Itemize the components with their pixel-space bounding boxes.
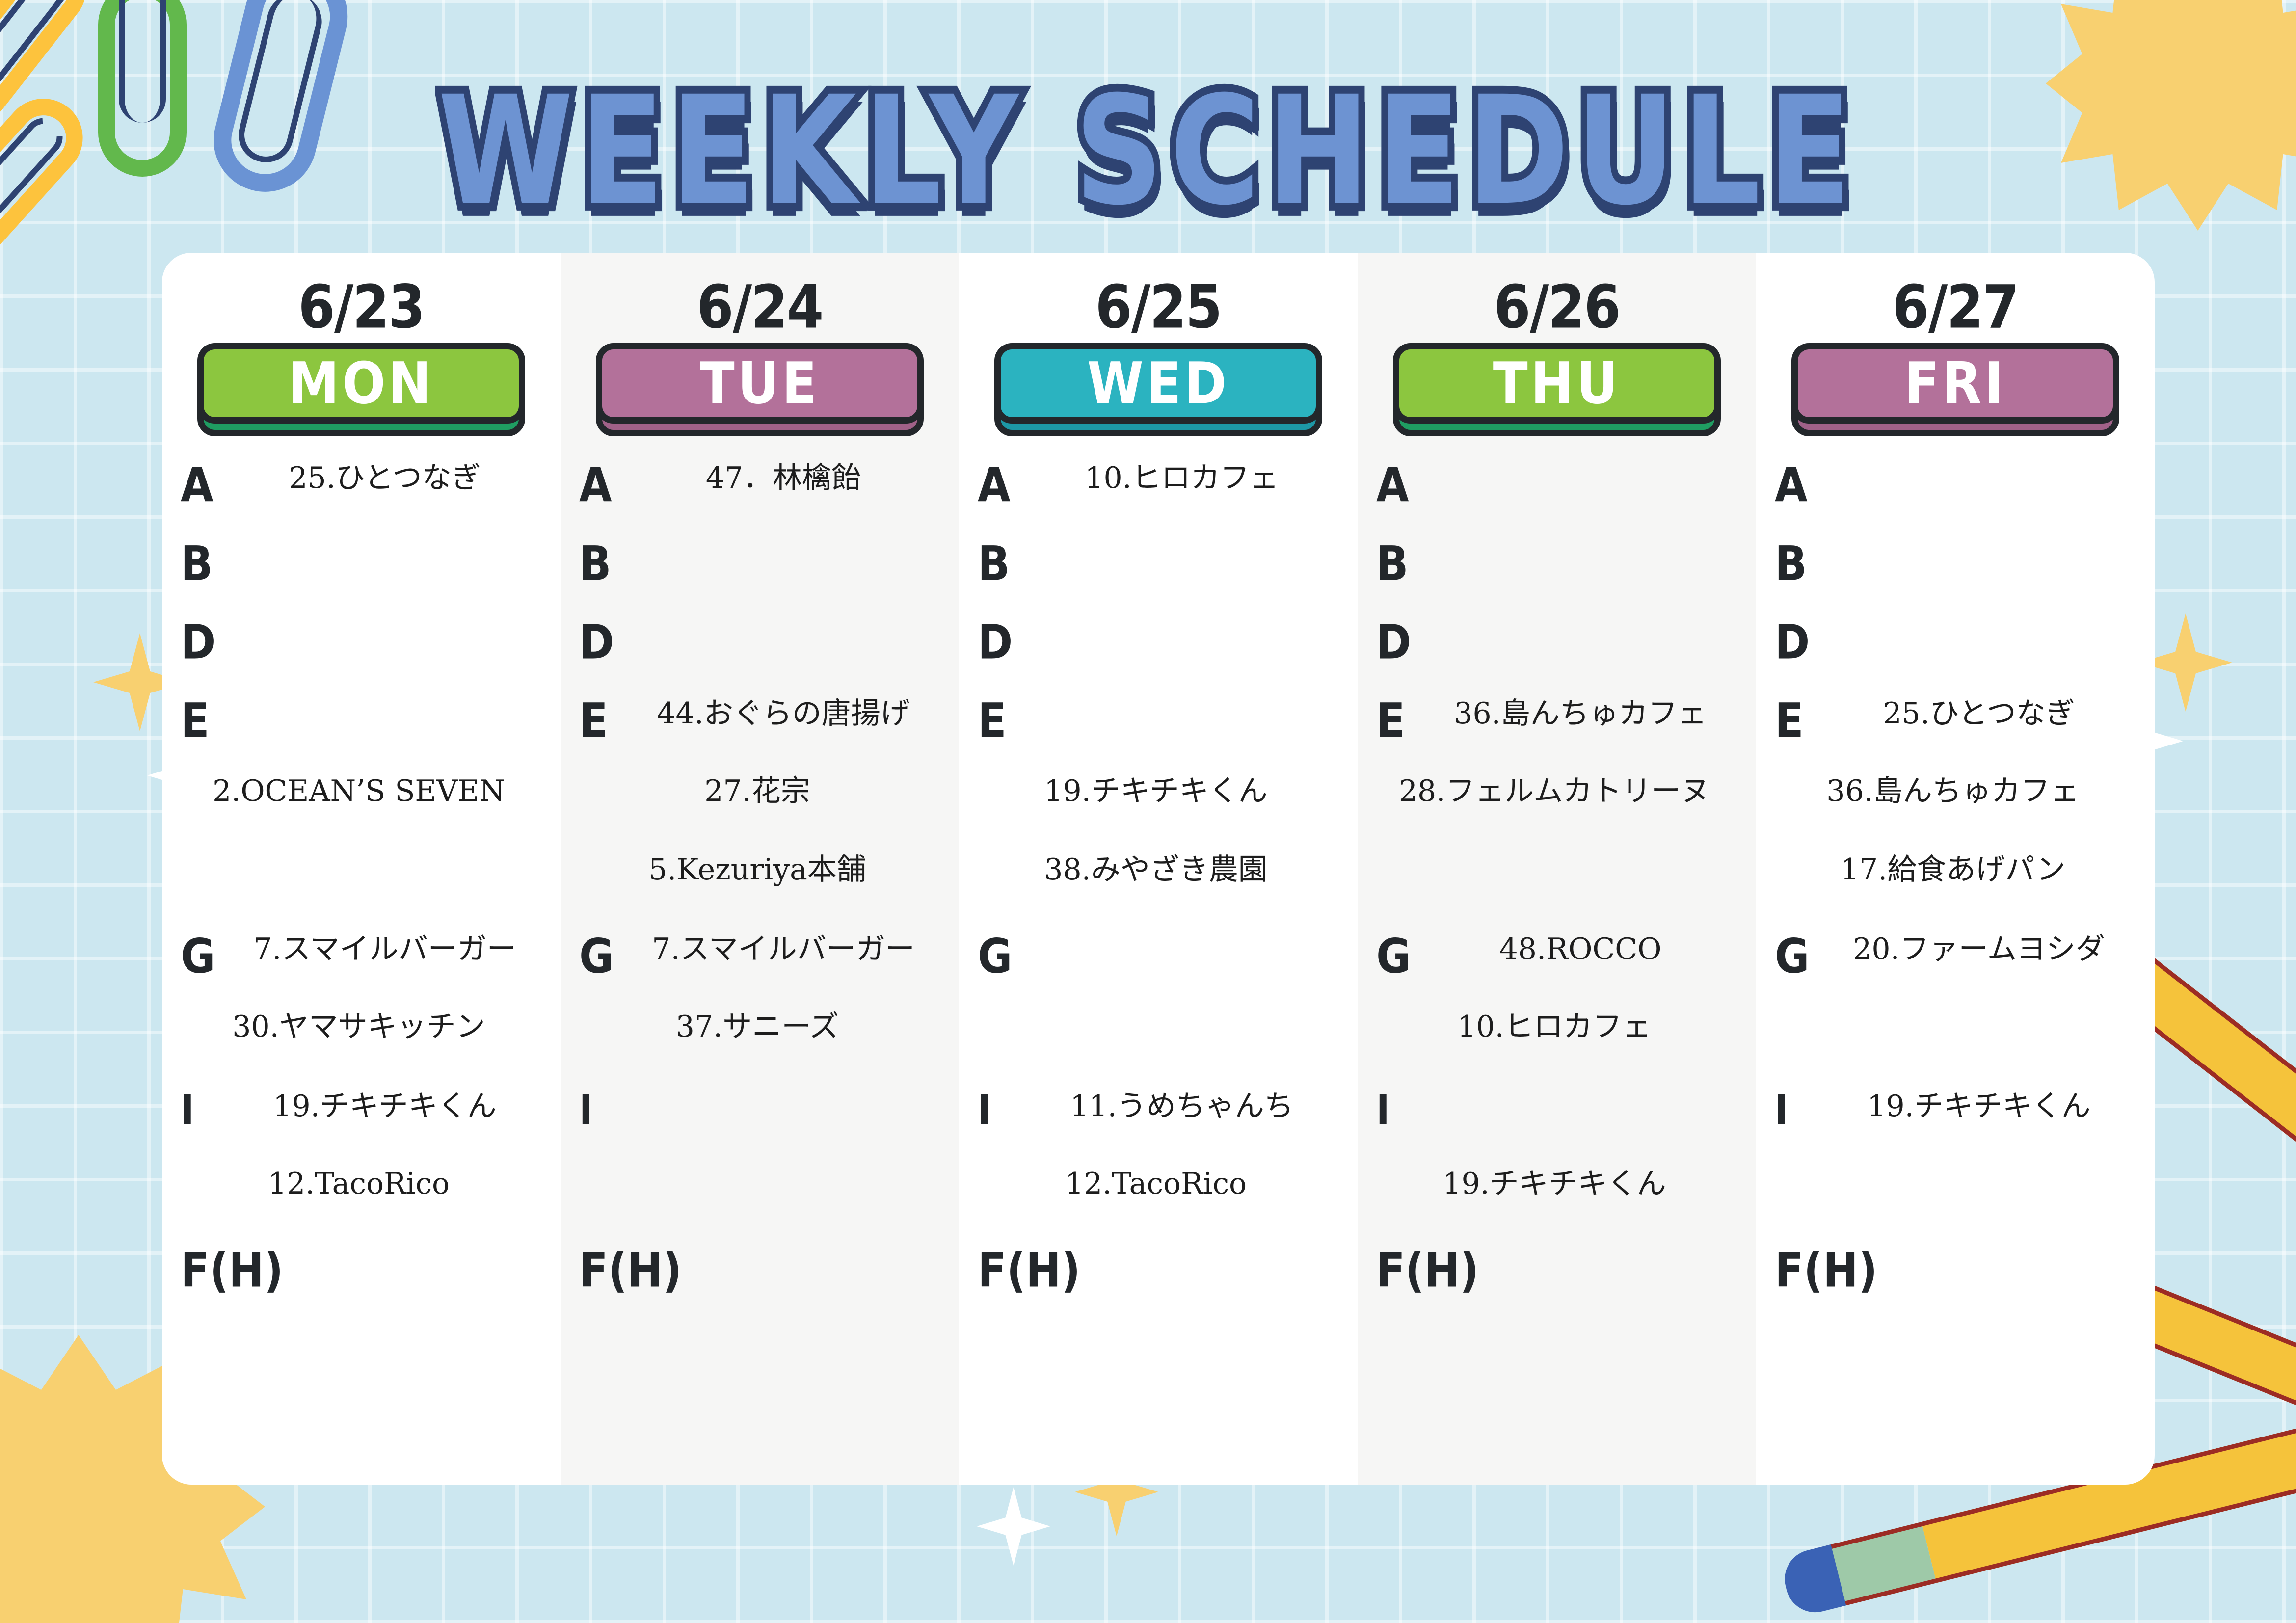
slot-key-i: I (171, 1090, 230, 1131)
slot-key-b: B (569, 540, 628, 587)
slot-row-i[interactable]: I 19.チキチキくん (1765, 1090, 2146, 1169)
slot-value-i: 19.チキチキくん (1824, 1090, 2146, 1122)
slot-key-i: I (1765, 1090, 1824, 1131)
slot-key-a: A (1765, 462, 1824, 509)
date-label-mon: 6/23 (171, 278, 552, 338)
slot-rows-thu: A B D E 36.島んちゅカフェ 28.フェルムカトリーヌ G 48.ROC… (1366, 462, 1747, 1326)
day-badge-face: MON (197, 343, 525, 424)
slot-key-g: G (1366, 933, 1425, 980)
slot-key-d: D (1765, 619, 1824, 666)
slot-key-fh: F(H) (1765, 1247, 1824, 1294)
day-column-fri[interactable]: 6/27 FRI A B D E 25.ひとつなぎ 3 (1756, 253, 2155, 1485)
slot-key-g: G (171, 933, 230, 980)
slot-row-b[interactable]: B (569, 540, 950, 619)
slot-value-g: 7.スマイルバーガー (230, 933, 552, 965)
slot-value-e: 44.おぐらの唐揚げ (628, 697, 950, 730)
slot-row-e[interactable]: E (968, 697, 1349, 776)
day-badge-wed[interactable]: WED (994, 343, 1322, 436)
slot-row-e[interactable]: E 36.島んちゅカフェ (1366, 697, 1747, 776)
day-name-thu: THU (1493, 355, 1621, 412)
slot-row-a[interactable]: A 47．林檎飴 (569, 462, 950, 540)
title-container: WEEKLY SCHEDULE (0, 64, 2296, 207)
day-badge-thu[interactable]: THU (1393, 343, 1720, 436)
date-label-thu: 6/26 (1366, 278, 1747, 338)
extra-line-2 (1366, 854, 1747, 933)
day-column-tue[interactable]: 6/24 TUE A 47．林檎飴 B D E 44.おぐらの唐揚げ (561, 253, 959, 1485)
g-extra-line: 10.ヒロカフェ (1366, 1011, 1747, 1090)
slot-rows-mon: A 25.ひとつなぎ B D E 2.OCEAN’S SEVEN G 7.スマイ… (171, 462, 552, 1326)
slot-key-b: B (171, 540, 230, 587)
slot-value-i: 11.うめちゃんち (1027, 1090, 1349, 1122)
day-badge-face: TUE (596, 343, 923, 424)
slot-row-e[interactable]: E (171, 697, 552, 776)
slot-key-fh: F(H) (968, 1247, 1027, 1294)
extra-line-1: 28.フェルムカトリーヌ (1366, 776, 1747, 854)
day-badge-tue[interactable]: TUE (596, 343, 923, 436)
slot-key-e: E (171, 697, 230, 745)
g-extra-line: 37.サニーズ (569, 1011, 950, 1090)
date-label-fri: 6/27 (1765, 278, 2146, 338)
slot-key-fh: F(H) (569, 1247, 628, 1294)
extra-line-2: 5.Kezuriya本舗 (569, 854, 950, 933)
slot-row-d[interactable]: D (968, 619, 1349, 697)
date-label-wed: 6/25 (968, 278, 1349, 338)
slot-row-a[interactable]: A 10.ヒロカフェ (968, 462, 1349, 540)
slot-row-g[interactable]: G 48.ROCCO (1366, 933, 1747, 1011)
slot-key-b: B (968, 540, 1027, 587)
day-column-mon[interactable]: 6/23 MON A 25.ひとつなぎ B D E 2 (162, 253, 561, 1485)
slot-row-i[interactable]: I (1366, 1090, 1747, 1169)
extra-line-2 (171, 854, 552, 933)
slot-row-g[interactable]: G 20.ファームヨシダ (1765, 933, 2146, 1011)
slot-value-g: 20.ファームヨシダ (1824, 933, 2146, 965)
slot-row-i[interactable]: I 11.うめちゃんち (968, 1090, 1349, 1169)
slot-row-fh[interactable]: F(H) (1765, 1247, 2146, 1326)
slot-row-e[interactable]: E 25.ひとつなぎ (1765, 697, 2146, 776)
slot-key-a: A (171, 462, 230, 509)
slot-row-b[interactable]: B (968, 540, 1349, 619)
day-column-wed[interactable]: 6/25 WED A 10.ヒロカフェ B D E 1 (959, 253, 1358, 1485)
day-name-wed: WED (1087, 355, 1229, 412)
slot-key-e: E (569, 697, 628, 745)
schedule-card: 6/23 MON A 25.ひとつなぎ B D E 2 (162, 253, 2155, 1485)
slot-row-fh[interactable]: F(H) (1366, 1247, 1747, 1326)
slot-key-fh: F(H) (1366, 1247, 1425, 1294)
slot-rows-tue: A 47．林檎飴 B D E 44.おぐらの唐揚げ 27.花宗 5.Kezuri… (569, 462, 950, 1326)
slot-key-e: E (1366, 697, 1425, 745)
slot-key-i: I (1366, 1090, 1425, 1131)
slot-value-a: 25.ひとつなぎ (230, 462, 552, 494)
slot-row-g[interactable]: G (968, 933, 1349, 1011)
slot-row-e[interactable]: E 44.おぐらの唐揚げ (569, 697, 950, 776)
slot-row-fh[interactable]: F(H) (968, 1247, 1349, 1326)
slot-rows-fri: A B D E 25.ひとつなぎ 36.島んちゅカフェ 17.給食あげパン G … (1765, 462, 2146, 1326)
slot-row-g[interactable]: G 7.スマイルバーガー (171, 933, 552, 1011)
slot-rows-wed: A 10.ヒロカフェ B D E 19.チキチキくん 38.みやざき農園 G (968, 462, 1349, 1326)
slot-row-b[interactable]: B (1366, 540, 1747, 619)
day-name-fri: FRI (1904, 355, 2006, 412)
slot-key-a: A (569, 462, 628, 509)
slot-key-d: D (1366, 619, 1425, 666)
slot-key-i: I (569, 1090, 628, 1131)
i-extra-line: 12.TacoRico (968, 1169, 1349, 1247)
page-title: WEEKLY SCHEDULE (438, 64, 1858, 238)
slot-key-i: I (968, 1090, 1027, 1131)
slot-row-d[interactable]: D (569, 619, 950, 697)
slot-value-e: 36.島んちゅカフェ (1425, 697, 1747, 730)
slot-value-i: 19.チキチキくん (230, 1090, 552, 1122)
extra-line-2: 38.みやざき農園 (968, 854, 1349, 933)
slot-key-b: B (1765, 540, 1824, 587)
date-label-tue: 6/24 (569, 278, 950, 338)
day-badge-face: THU (1393, 343, 1720, 424)
day-name-mon: MON (289, 355, 434, 412)
i-extra-line: 12.TacoRico (171, 1169, 552, 1247)
slot-key-d: D (569, 619, 628, 666)
slot-value-g: 7.スマイルバーガー (628, 933, 950, 965)
extra-line-1: 36.島んちゅカフェ (1765, 776, 2146, 854)
slot-row-d[interactable]: D (1765, 619, 2146, 697)
day-badge-face: WED (994, 343, 1322, 424)
slot-row-i[interactable]: I 19.チキチキくん (171, 1090, 552, 1169)
slot-row-d[interactable]: D (1366, 619, 1747, 697)
slot-key-g: G (569, 933, 628, 980)
slot-row-a[interactable]: A 25.ひとつなぎ (171, 462, 552, 540)
g-extra-line: 30.ヤマサキッチン (171, 1011, 552, 1090)
slot-key-g: G (968, 933, 1027, 980)
day-badge-fri[interactable]: FRI (1791, 343, 2119, 436)
slot-row-a[interactable]: A (1765, 462, 2146, 540)
g-extra-line (968, 1011, 1349, 1090)
slot-row-b[interactable]: B (1765, 540, 2146, 619)
i-extra-line (569, 1169, 950, 1247)
slot-key-d: D (968, 619, 1027, 666)
i-extra-line (1765, 1169, 2146, 1247)
slot-key-g: G (1765, 933, 1824, 980)
slot-row-i[interactable]: I (569, 1090, 950, 1169)
slot-key-a: A (1366, 462, 1425, 509)
slot-key-fh: F(H) (171, 1247, 230, 1294)
extra-line-1: 19.チキチキくん (968, 776, 1349, 854)
extra-line-2: 17.給食あげパン (1765, 854, 2146, 933)
slot-key-a: A (968, 462, 1027, 509)
i-extra-line: 19.チキチキくん (1366, 1169, 1747, 1247)
g-extra-line (1765, 1011, 2146, 1090)
slot-key-e: E (968, 697, 1027, 745)
slot-row-a[interactable]: A (1366, 462, 1747, 540)
slot-row-fh[interactable]: F(H) (171, 1247, 552, 1326)
day-column-thu[interactable]: 6/26 THU A B D E 36.島んちゅカフェ (1358, 253, 1756, 1485)
slot-value-a: 10.ヒロカフェ (1027, 462, 1349, 494)
slot-row-fh[interactable]: F(H) (569, 1247, 950, 1326)
slot-value-e: 25.ひとつなぎ (1824, 697, 2146, 730)
day-badge-face: FRI (1791, 343, 2119, 424)
slot-key-e: E (1765, 697, 1824, 745)
extra-line-1: 2.OCEAN’S SEVEN (171, 776, 552, 854)
slot-row-d[interactable]: D (171, 619, 552, 697)
extra-line-1: 27.花宗 (569, 776, 950, 854)
day-name-tue: TUE (700, 355, 820, 412)
slot-value-a: 47．林檎飴 (628, 462, 950, 494)
slot-key-d: D (171, 619, 230, 666)
slot-key-b: B (1366, 540, 1425, 587)
slot-row-b[interactable]: B (171, 540, 552, 619)
day-badge-mon[interactable]: MON (197, 343, 525, 436)
slot-value-g: 48.ROCCO (1425, 933, 1747, 965)
slot-row-g[interactable]: G 7.スマイルバーガー (569, 933, 950, 1011)
